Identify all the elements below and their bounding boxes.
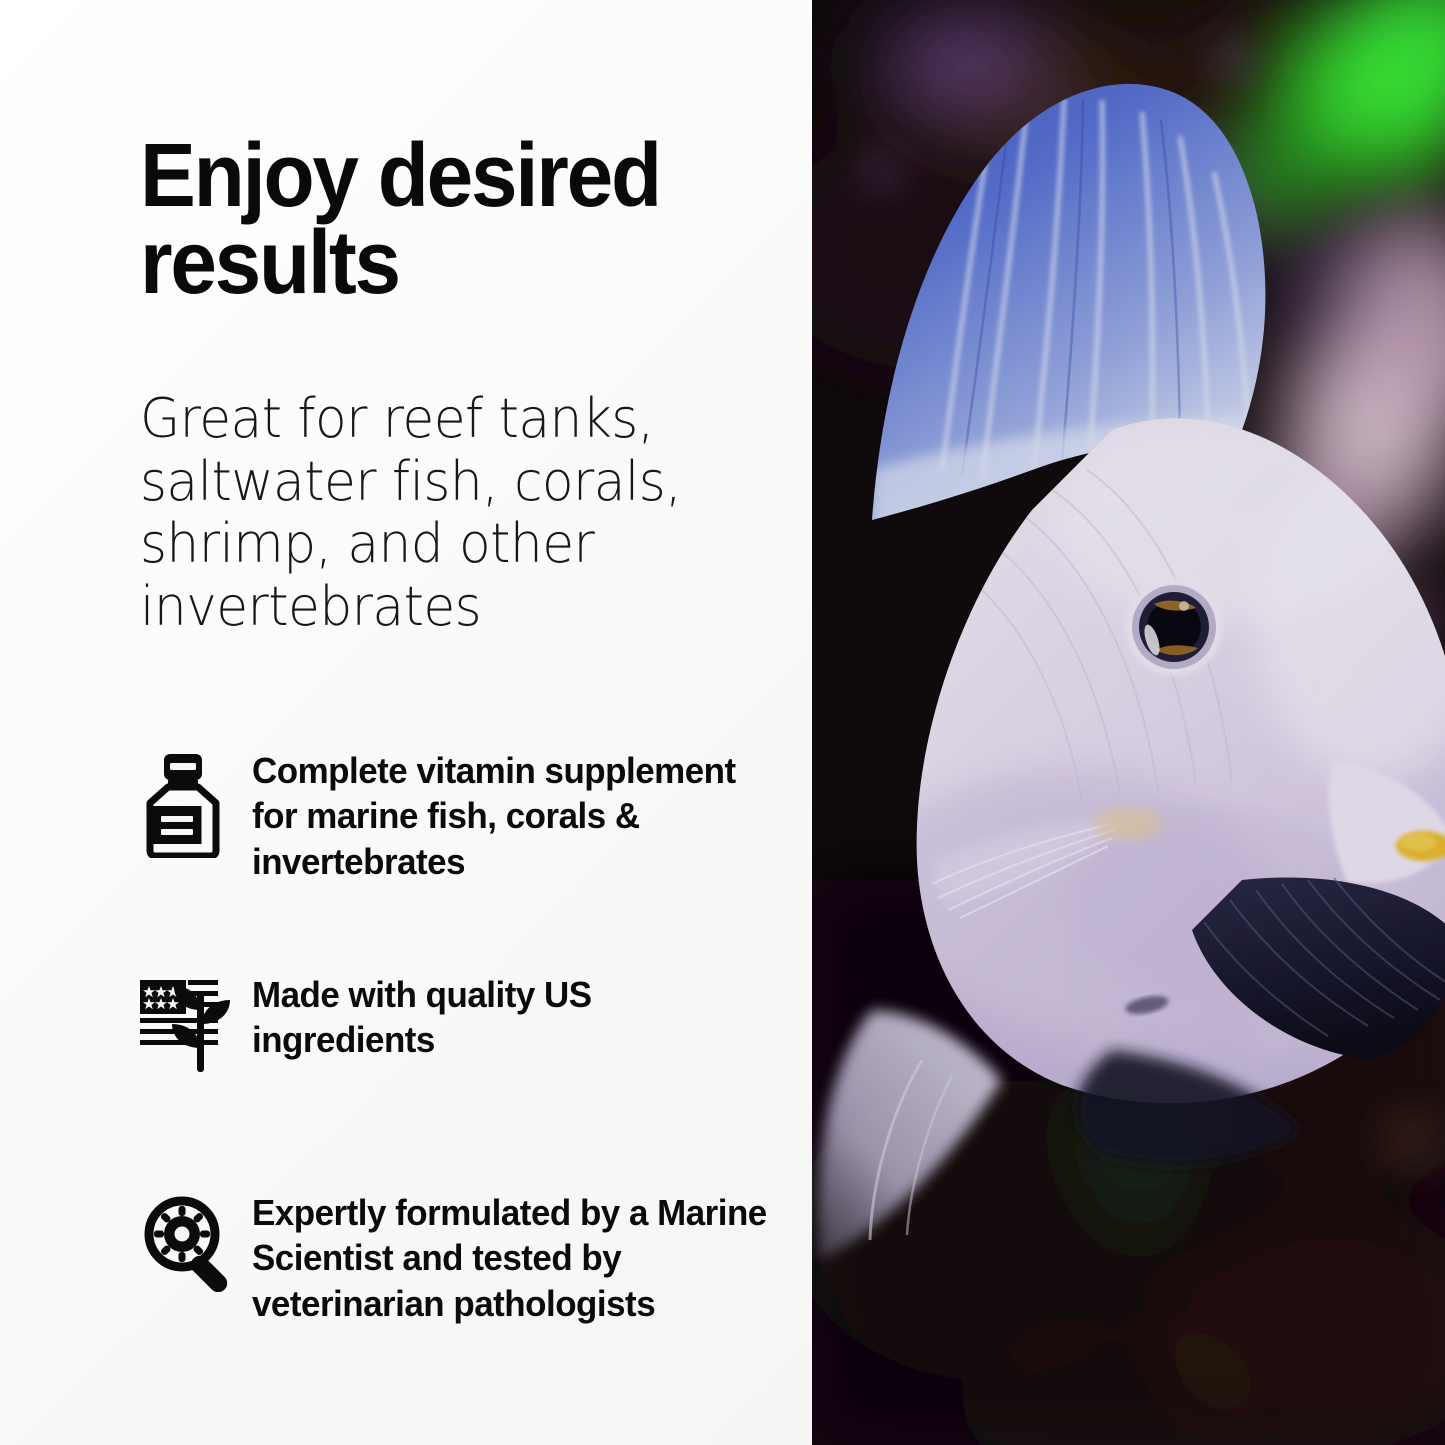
page-title: Enjoy desired results [140, 133, 754, 308]
subheading-text: Great for reef tanks, saltwater fish, co… [140, 388, 716, 639]
reef-fish-photo [812, 0, 1445, 1445]
supplement-bottle-icon [140, 748, 252, 858]
product-feature-panel: Enjoy desired results Great for reef tan… [0, 0, 1445, 1445]
feature-row: Expertly formulated by a Marine Scientis… [140, 1190, 800, 1326]
feature-label: Expertly formulated by a Marine Scientis… [252, 1190, 784, 1326]
usa-flag-plant-icon [140, 972, 252, 1072]
feature-label: Complete vitamin supplement for marine f… [252, 748, 784, 884]
feature-row: Made with quality US ingredients [140, 972, 800, 1072]
feature-label: Made with quality US ingredients [252, 972, 784, 1063]
magnifier-microbe-icon [140, 1190, 252, 1292]
left-text-panel: Enjoy desired results Great for reef tan… [0, 0, 812, 1445]
feature-row: Complete vitamin supplement for marine f… [140, 748, 800, 884]
